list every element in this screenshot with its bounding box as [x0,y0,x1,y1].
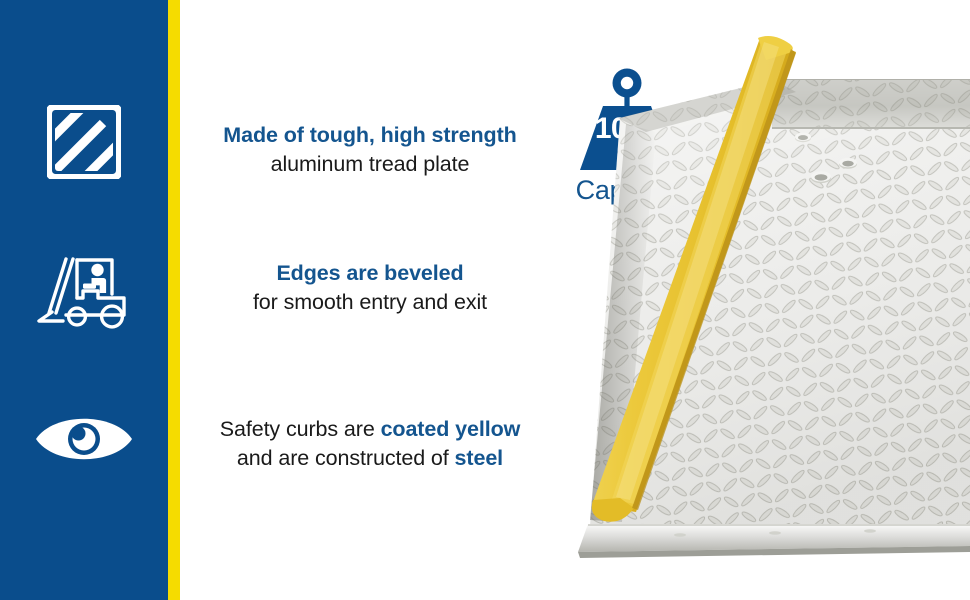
feature-list: Made of tough, high strength aluminum tr… [180,0,560,600]
feature-item-material: Made of tough, high strength aluminum tr… [180,121,560,178]
feature-3-line-1-emphasis: coated yellow [381,417,521,441]
feature-item-beveled-edges: Edges are beveled for smooth entry and e… [180,259,560,316]
feature-1-line-1: Made of tough, high strength [180,121,560,150]
feature-item-safety-curbs: Safety curbs are coated yellow and are c… [180,415,560,472]
infographic-canvas: Made of tough, high strength aluminum tr… [0,0,970,600]
yellow-accent-stripe [168,0,180,600]
tread-plate-icon [0,96,168,188]
feature-3-line-1-prefix: Safety curbs are [220,417,381,441]
feature-2-line-1: Edges are beveled [180,259,560,288]
feature-1-line-2: aluminum tread plate [180,150,560,179]
eye-icon [0,398,168,480]
feature-2-line-2: for smooth entry and exit [180,288,560,317]
feature-3-line-2-prefix: and are constructed of [237,446,455,470]
feature-3-line-2-emphasis: steel [455,446,504,470]
product-image [560,0,970,600]
forklift-icon [0,246,168,338]
